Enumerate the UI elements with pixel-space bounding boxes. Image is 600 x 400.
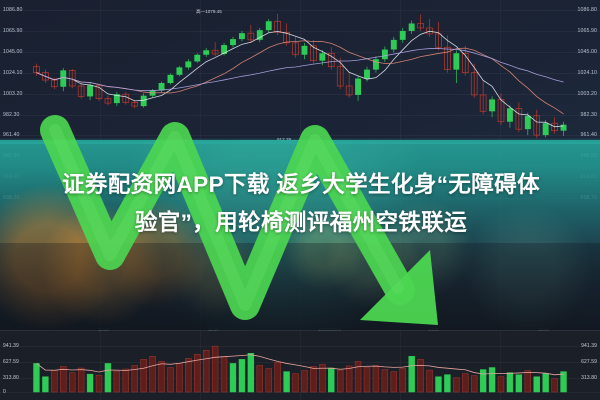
headline-line-2: 验官”，用轮椅测评福州空铁联运 [22,204,580,242]
page-title: 证券配资网APP下载 返乡大学生化身“无障碍体 验官”，用轮椅测评福州空铁联运 [22,166,580,242]
headline-line-1: 证券配资网APP下载 返乡大学生化身“无障碍体 [62,172,540,197]
screenshot-root: 1086.801065.901045.001024.101003.20982.3… [0,0,600,400]
